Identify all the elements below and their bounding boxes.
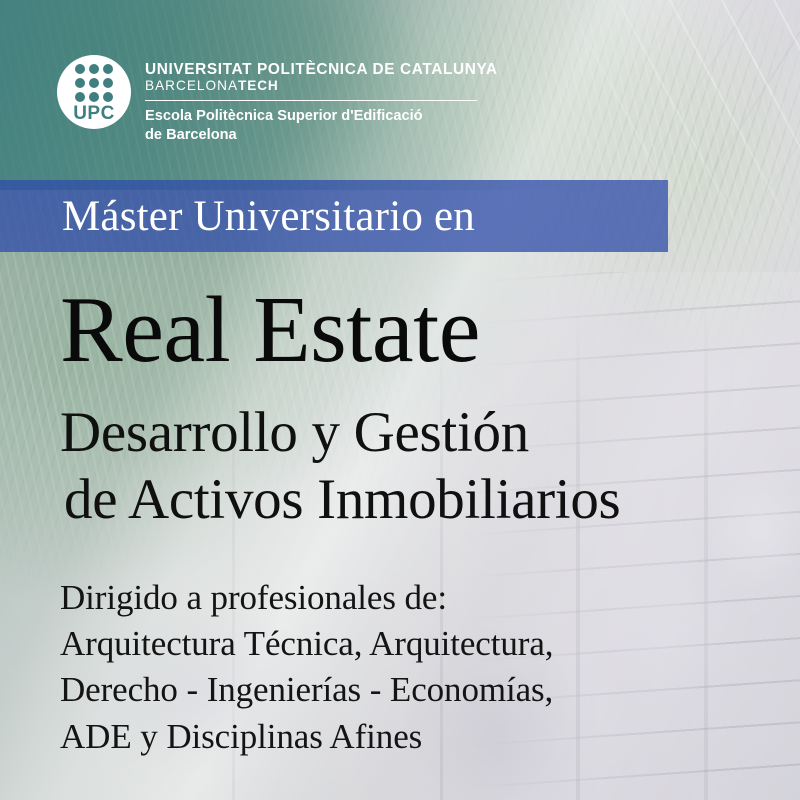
audience-line-3: ADE y Disciplinas Afines (60, 714, 553, 760)
degree-type-label: Máster Universitario en (62, 195, 475, 238)
upc-logo-icon: UPC (57, 55, 131, 129)
upc-wordmark: UPC (73, 104, 115, 123)
audience-intro: Dirigido a profesionales de: (60, 575, 553, 621)
program-subtitle-line-2: de Activos Inmobiliarios (60, 467, 620, 534)
institution-lockup: UPC UNIVERSITAT POLITÈCNICA DE CATALUNYA… (57, 55, 498, 145)
audience-line-1: Arquitectura Técnica, Arquitectura, (60, 621, 553, 667)
brand-tagline-light: BARCELONA (145, 78, 238, 93)
poster-content: UPC UNIVERSITAT POLITÈCNICA DE CATALUNYA… (0, 0, 800, 800)
institution-text-block: UNIVERSITAT POLITÈCNICA DE CATALUNYA BAR… (145, 55, 498, 145)
school-name-line-2: de Barcelona (145, 126, 498, 145)
lockup-divider (145, 100, 477, 102)
audience-line-2: Derecho - Ingenierías - Economías, (60, 667, 553, 713)
brand-tagline: BARCELONATECH (145, 78, 498, 94)
program-subtitle: Desarrollo y Gestión de Activos Inmobili… (60, 400, 620, 533)
target-audience-block: Dirigido a profesionales de: Arquitectur… (60, 575, 553, 760)
upc-dot-grid-icon (75, 64, 113, 102)
brand-tagline-bold: TECH (238, 78, 279, 93)
poster-root: UPC UNIVERSITAT POLITÈCNICA DE CATALUNYA… (0, 0, 800, 800)
program-subtitle-line-1: Desarrollo y Gestión (60, 400, 620, 467)
school-name-line-1: Escola Politècnica Superior d'Edificació (145, 107, 498, 126)
university-name: UNIVERSITAT POLITÈCNICA DE CATALUNYA (145, 61, 498, 78)
program-title: Real Estate (60, 283, 480, 377)
degree-type-ribbon: Máster Universitario en (0, 180, 668, 252)
